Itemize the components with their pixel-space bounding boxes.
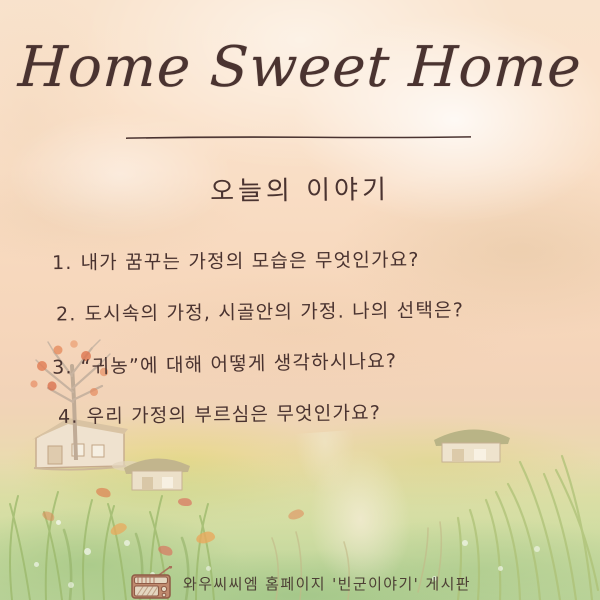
list-item-number: 1.	[52, 252, 73, 274]
list-item: 1.내가 꿈꾸는 가정의 모습은 무엇인가요?	[0, 243, 600, 275]
list-item-number: 4.	[58, 406, 79, 428]
list-item-text: 내가 꿈꾸는 가정의 모습은 무엇인가요?	[80, 249, 419, 274]
ink-line-divider-icon	[126, 136, 471, 139]
question-list: 1.내가 꿈꾸는 가정의 모습은 무엇인가요? 2.도시속의 가정, 시골안의 …	[0, 246, 600, 450]
radio-icon	[129, 566, 175, 600]
subtitle: 오늘의 이야기	[0, 167, 600, 210]
footer-text: 와우씨씨엠 홈페이지 '빈군이야기' 게시판	[183, 573, 471, 594]
list-item-number: 2.	[56, 303, 77, 325]
list-item: 2.도시속의 가정, 시골안의 가정. 나의 선택은?	[0, 294, 600, 327]
list-item: 3.“귀농”에 대해 어떻게 생각하시나요?	[0, 342, 600, 381]
poster-card: Home Sweet Home 오늘의 이야기 1.내가 꿈꾸는 가정의 모습은…	[0, 0, 600, 600]
list-item-text: 우리 가정의 부르심은 무엇인가요?	[86, 402, 381, 428]
list-item-number: 3.	[52, 356, 73, 378]
list-item: 4.우리 가정의 부르심은 무엇인가요?	[0, 395, 600, 429]
footer: 와우씨씨엠 홈페이지 '빈군이야기' 게시판	[0, 566, 600, 600]
page-title: Home Sweet Home	[0, 40, 600, 96]
list-item-text: 도시속의 가정, 시골안의 가정. 나의 선택은?	[84, 299, 464, 325]
list-item-text: “귀농”에 대해 어떻게 생각하시나요?	[80, 350, 397, 378]
